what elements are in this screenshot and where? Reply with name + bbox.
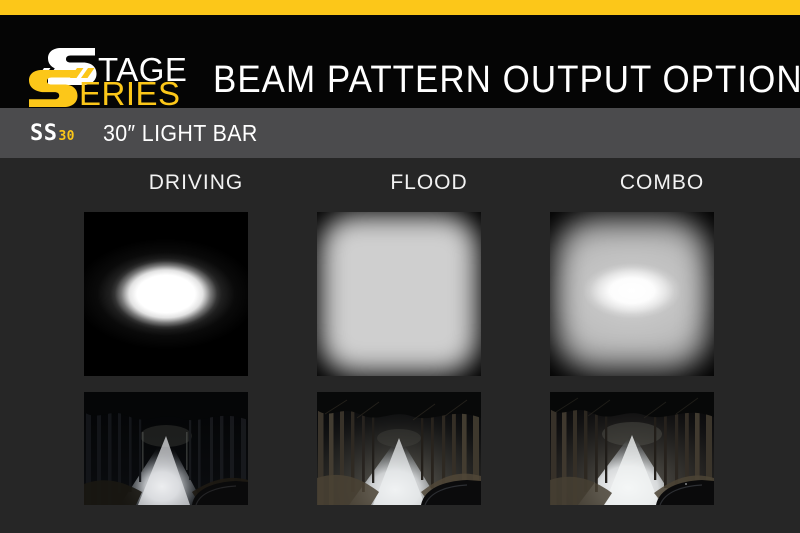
logo-letter-s-yellow [29,70,78,107]
stage-series-logo: TAGE ERIES [27,37,192,109]
model-badge: SS30 [30,124,75,144]
stage-series-logo-mark: TAGE ERIES [27,37,192,109]
beam-pattern-infographic: TAGE ERIES BEAM PATTERN OUTPUT OPTIONS S… [0,0,800,533]
flood-beam-fill [320,215,477,372]
beam-pattern-columns: DRIVING [0,158,800,533]
combo-road-photo-art [550,392,714,505]
logo-text-eries: ERIES [79,75,181,109]
model-subheader-bar: SS30 30″ LIGHT BAR [0,108,800,158]
model-description-label: 30″ LIGHT BAR [103,122,258,145]
beam-column-label: COMBO [546,172,778,193]
header-bar: TAGE ERIES BEAM PATTERN OUTPUT OPTIONS [0,15,800,108]
combo-beam-hotspot [550,212,714,376]
driving-road-photo-art [84,392,248,505]
flood-road-photo [317,392,481,505]
flood-beam-pattern [317,212,481,376]
combo-beam-glow [550,212,714,376]
flood-beam-glow [317,212,481,376]
combo-road-photo [550,392,714,505]
driving-beam-pattern [84,212,248,376]
beam-column-label: DRIVING [80,172,312,193]
flood-road-photo-art [317,392,481,505]
combo-beam-pattern [550,212,714,376]
model-number-label: 30 [59,130,75,143]
driving-beam-glow [84,212,248,376]
top-accent-bar [0,0,800,15]
beam-column-label: FLOOD [313,172,545,193]
model-prefix-label: SS [30,124,58,144]
driving-road-photo [84,392,248,505]
page-title: BEAM PATTERN OUTPUT OPTIONS [213,61,800,99]
